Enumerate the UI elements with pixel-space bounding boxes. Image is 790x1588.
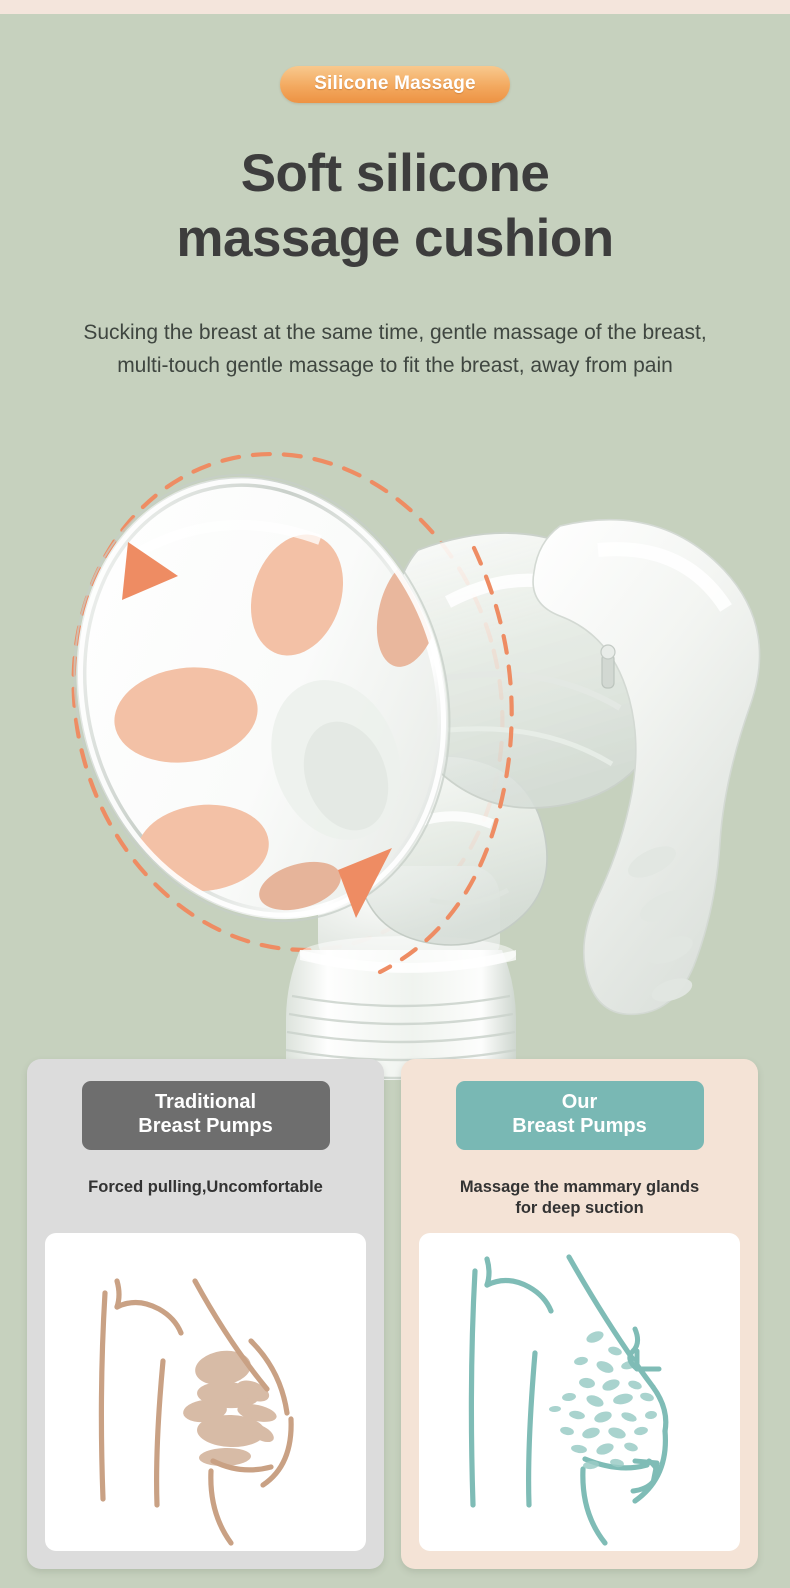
card-caption-ours: Massage the mammary glands for deep suct… (411, 1177, 748, 1219)
caption-line-2: for deep suction (411, 1198, 748, 1219)
pill-line-2: Breast Pumps (82, 1114, 330, 1138)
comparison-card-traditional: Traditional Breast Pumps Forced pulling,… (27, 1059, 384, 1569)
caption-line-1: Massage the mammary glands (411, 1177, 748, 1198)
product-image (0, 430, 790, 1080)
breast-pump-illustration (0, 430, 790, 1080)
pill-line-2: Breast Pumps (456, 1114, 704, 1138)
massage-dots (549, 1329, 658, 1470)
comparison-card-ours: Our Breast Pumps Massage the mammary gla… (401, 1059, 758, 1569)
gland-clusters (182, 1347, 278, 1467)
page-title: Soft silicone massage cushion (0, 142, 790, 271)
breast-anatomy-deep-suction-icon (419, 1233, 740, 1551)
silicone-massage-badge: Silicone Massage (280, 66, 510, 103)
comparison-section: Traditional Breast Pumps Forced pulling,… (0, 1059, 790, 1571)
card-header-pill-ours: Our Breast Pumps (456, 1081, 704, 1150)
product-feature-page: Silicone Massage Soft silicone massage c… (0, 0, 790, 1588)
card-figure-ours (419, 1233, 740, 1551)
pill-line-1: Our (456, 1090, 704, 1114)
top-accent-strip (0, 0, 790, 14)
pill-line-1: Traditional (82, 1090, 330, 1114)
card-figure-traditional (45, 1233, 366, 1551)
badge-container: Silicone Massage (0, 66, 790, 103)
breast-anatomy-forced-pull-icon (45, 1233, 366, 1551)
card-caption-traditional: Forced pulling,Uncomfortable (37, 1177, 374, 1198)
page-subtitle: Sucking the breast at the same time, gen… (60, 316, 730, 382)
handle-hinge (601, 645, 615, 688)
headline-line-1: Soft silicone (0, 142, 790, 207)
card-header-pill-traditional: Traditional Breast Pumps (82, 1081, 330, 1150)
headline-line-2: massage cushion (0, 207, 790, 272)
